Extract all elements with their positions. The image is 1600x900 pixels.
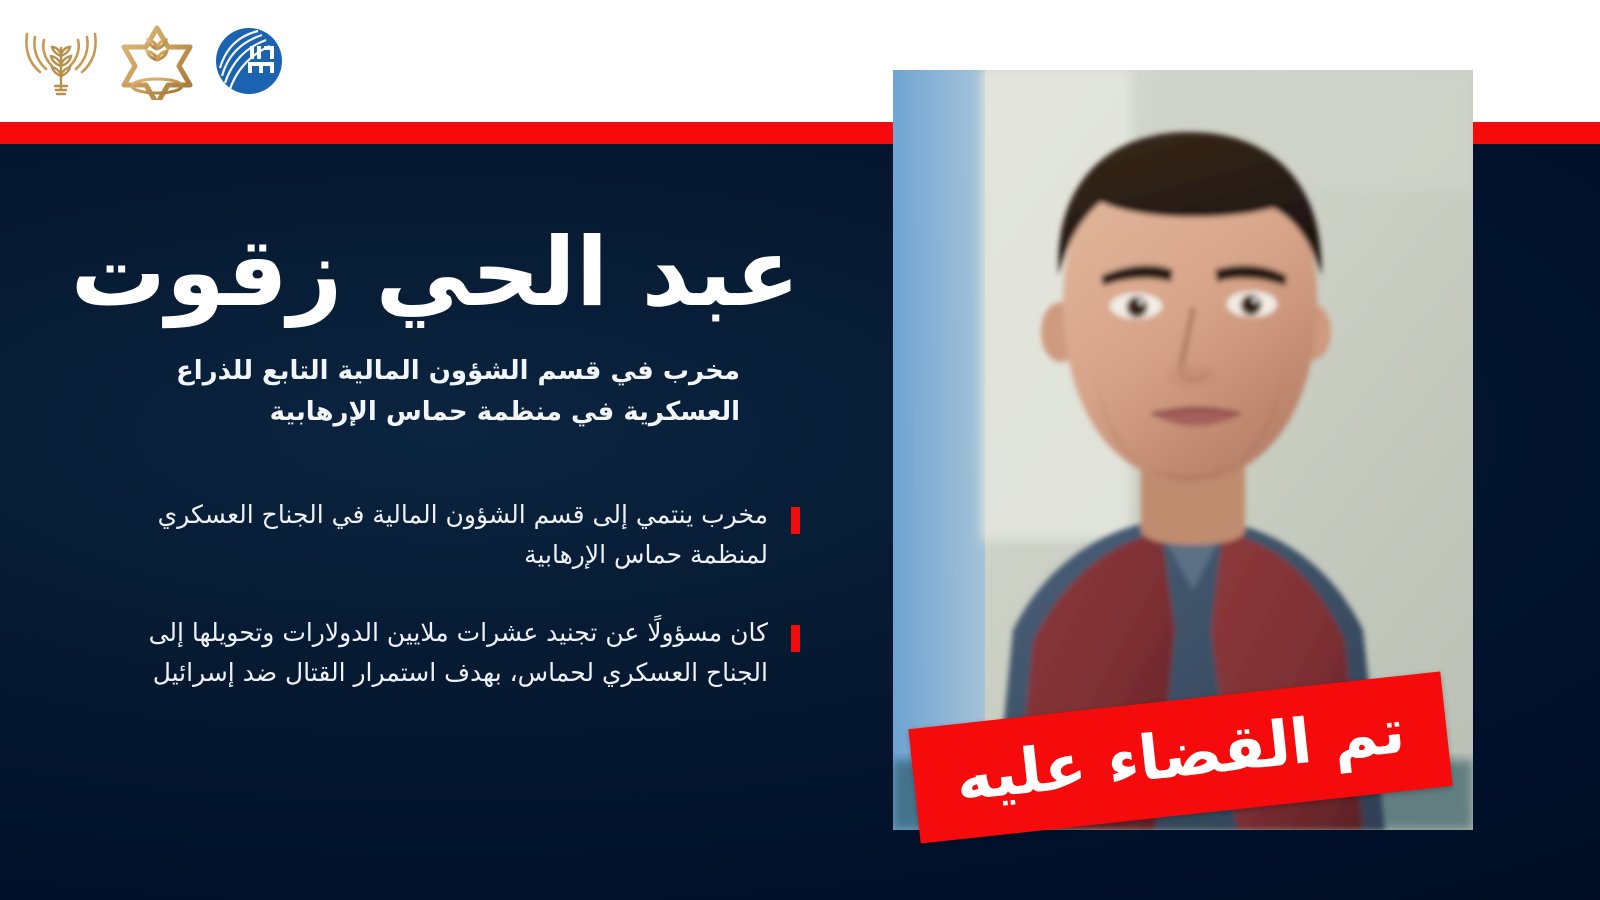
bullet-marker-icon (791, 507, 800, 534)
detail-bullet-list: مخرب ينتمي إلى قسم الشؤون المالية في الج… (100, 495, 800, 693)
logo-row (22, 22, 284, 104)
israeli-broadcast-circle-logo (214, 26, 284, 100)
idf-emblem-logo (118, 22, 196, 104)
list-item: كان مسؤولًا عن تجنيد عشرات ملايين الدولا… (100, 613, 800, 693)
bullet-text: مخرب ينتمي إلى قسم الشؤون المالية في الج… (158, 500, 768, 569)
person-name: عبد الحي زقوت (100, 222, 800, 325)
bullet-marker-icon (791, 625, 800, 652)
bullet-text: كان مسؤولًا عن تجنيد عشرات ملايين الدولا… (149, 618, 768, 687)
person-role: مخرب في قسم الشؤون المالية التابع للذراع… (100, 351, 740, 433)
announcement-card: عبد الحي زقوت مخرب في قسم الشؤون المالية… (0, 0, 1600, 900)
info-column: عبد الحي زقوت مخرب في قسم الشؤون المالية… (100, 144, 800, 731)
list-item: مخرب ينتمي إلى قسم الشؤون المالية في الج… (100, 495, 800, 575)
idf-spokesperson-unit-logo (22, 22, 100, 104)
